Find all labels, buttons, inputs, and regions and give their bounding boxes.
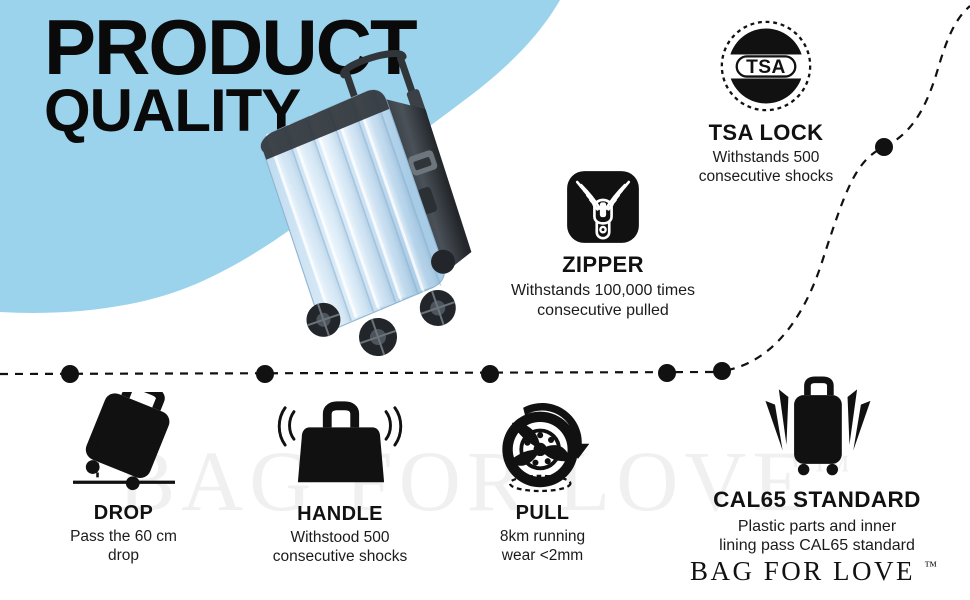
tsa-badge-label: TSA [746,57,786,78]
feature-title: ZIPPER [478,253,728,277]
feature-zipper[interactable]: ZIPPER Withstands 100,000 timesconsecuti… [478,168,728,320]
zipper-icon [564,168,642,246]
feature-title: DROP [36,502,211,524]
brand-logo: BAG FOR LOVE ™ [690,556,958,587]
spinner-wheel-icon [491,400,595,495]
feature-title: CAL65 STANDARD [672,488,962,513]
brand-trademark: ™ [924,558,937,573]
feature-tsa-lock[interactable]: TSA TSA LOCK Withstands 500consecutive s… [640,18,892,187]
feature-pull[interactable]: PULL 8km runningwear <2mm [460,400,625,566]
feature-desc: Plastic parts and innerlining pass CAL65… [672,517,962,556]
feature-cal65[interactable]: CAL65 STANDARD Plastic parts and innerli… [672,376,962,556]
feature-desc: 8km runningwear <2mm [460,528,625,566]
feature-title: PULL [460,502,625,524]
feature-desc: Pass the 60 cmdrop [36,528,211,566]
infographic-canvas: BAG FOR LOVE™ PRODUCT QUALITY [0,0,970,600]
feature-desc: Withstands 100,000 timesconsecutive pull… [478,281,728,320]
feature-handle[interactable]: HANDLE Withstood 500consecutive shocks [240,398,440,567]
feature-drop[interactable]: DROP Pass the 60 cmdrop [36,392,211,566]
cal65-suitcase-icon [750,376,884,481]
brand-logo-text: BAG FOR LOVE [690,556,915,586]
feature-desc: Withstood 500consecutive shocks [240,529,440,567]
handle-shake-icon [276,398,404,496]
feature-title: TSA LOCK [640,121,892,145]
drop-test-icon [65,392,183,495]
tsa-lock-icon: TSA [718,18,814,114]
feature-title: HANDLE [240,503,440,525]
